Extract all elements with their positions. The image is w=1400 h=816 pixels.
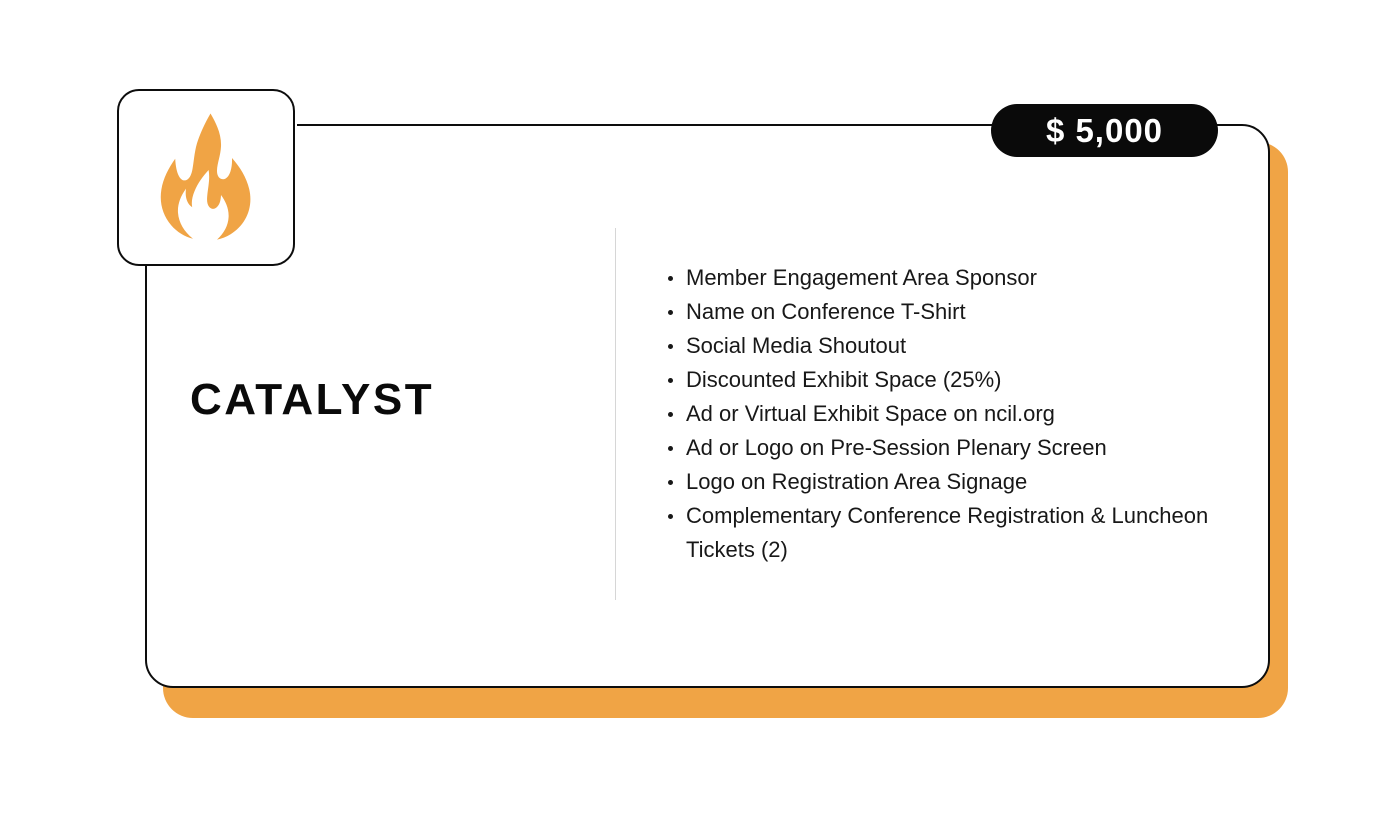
benefit-item: Discounted Exhibit Space (25%) <box>666 363 1226 397</box>
benefit-item: Social Media Shoutout <box>666 329 1226 363</box>
benefit-item: Name on Conference T-Shirt <box>666 295 1226 329</box>
benefit-item: Ad or Logo on Pre-Session Plenary Screen <box>666 431 1226 465</box>
benefit-item: Complementary Conference Registration & … <box>666 499 1226 567</box>
tier-name: CATALYST <box>190 378 434 422</box>
benefit-item: Ad or Virtual Exhibit Space on ncil.org <box>666 397 1226 431</box>
tier-icon-tile <box>117 89 295 266</box>
benefit-item: Logo on Registration Area Signage <box>666 465 1226 499</box>
benefits-list: Member Engagement Area Sponsor Name on C… <box>666 261 1226 567</box>
vertical-divider <box>615 228 616 600</box>
price-badge: $ 5,000 <box>991 104 1218 157</box>
benefit-item: Member Engagement Area Sponsor <box>666 261 1226 295</box>
sponsorship-tier-card-stage: $ 5,000 CATALYST Member Engagement Area … <box>0 0 1400 816</box>
price-amount: $ 5,000 <box>1046 114 1163 147</box>
flame-icon <box>160 113 252 243</box>
